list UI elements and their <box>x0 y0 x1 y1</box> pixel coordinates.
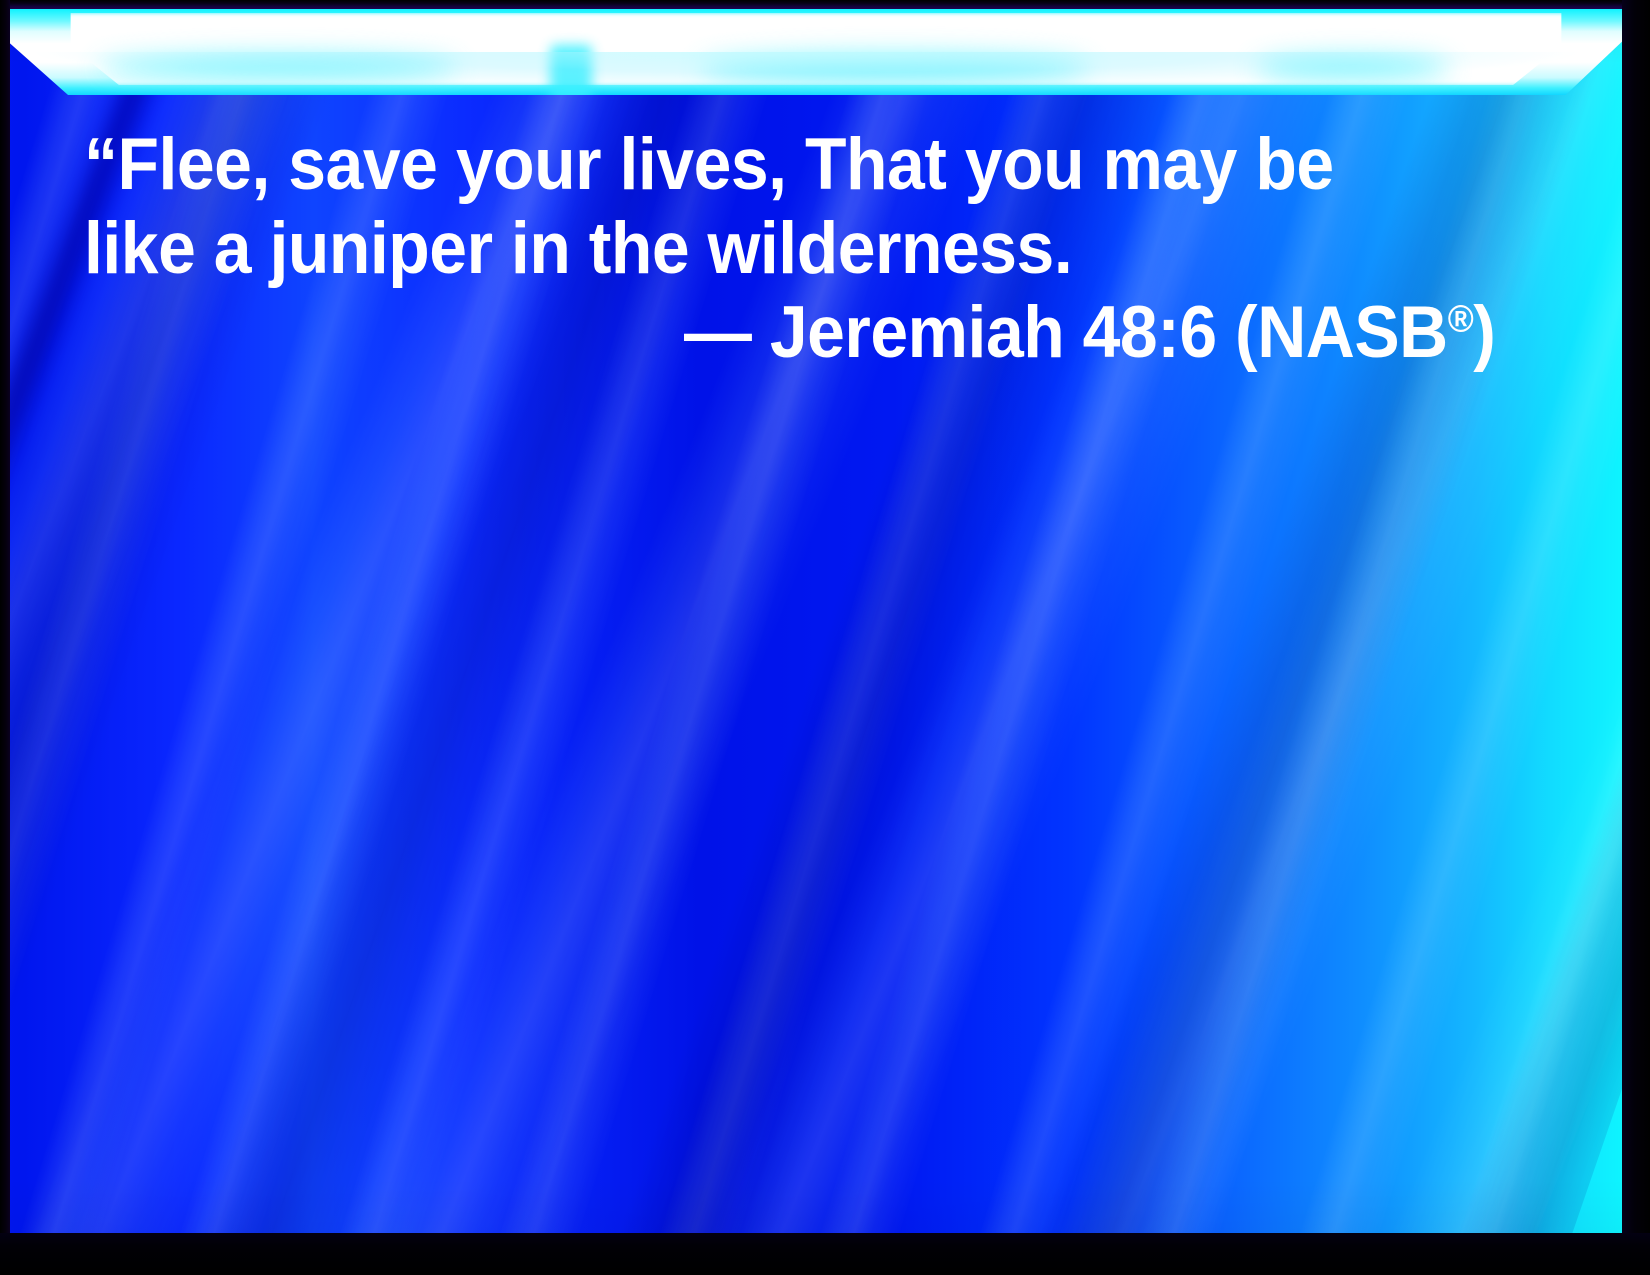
attribution-reference: — Jeremiah 48:6 (NASB <box>684 292 1448 373</box>
glow-smudge-notch <box>550 45 592 95</box>
verse-slide: “Flee, save your lives, That you may be … <box>0 0 1650 1275</box>
header-glow-band <box>10 9 1622 95</box>
registered-trademark-icon: ® <box>1448 299 1474 341</box>
verse-line-1: “Flee, save your lives, That you may be <box>84 128 1334 201</box>
attribution-close-paren: ) <box>1473 292 1495 373</box>
glow-smudge-center <box>700 55 1090 81</box>
glow-smudge-left <box>98 56 458 80</box>
border-top <box>0 0 1650 9</box>
border-bottom <box>0 1233 1650 1275</box>
glow-smudge-right <box>1255 57 1450 79</box>
verse-line-2: like a juniper in the wilderness. <box>84 212 1072 285</box>
border-left <box>0 0 10 1275</box>
verse-attribution: — Jeremiah 48:6 (NASB®) <box>684 296 1495 369</box>
border-right <box>1622 0 1650 1275</box>
